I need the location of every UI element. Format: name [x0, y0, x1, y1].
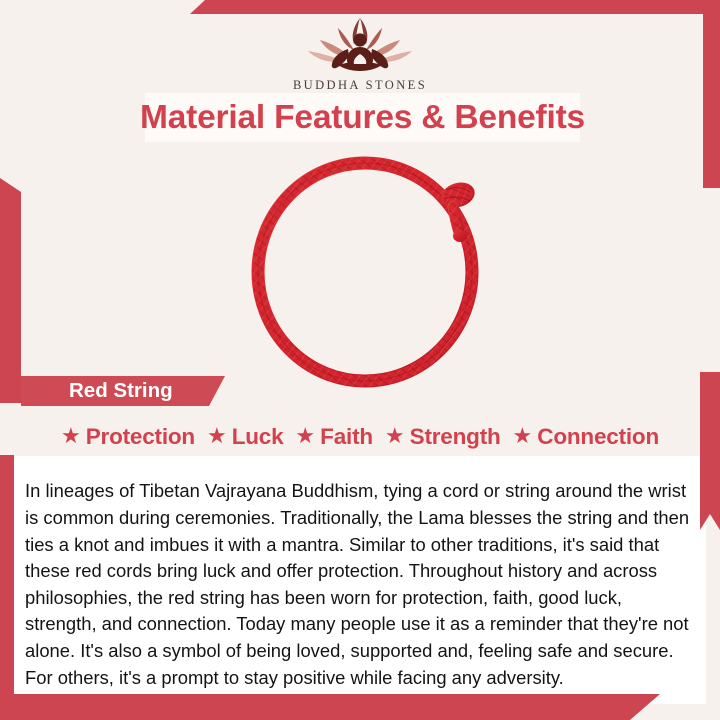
benefit-label: Connection — [537, 424, 659, 450]
star-icon: ★ — [61, 425, 81, 447]
benefit-item: ★ Connection — [513, 424, 659, 450]
benefit-item: ★ Luck — [207, 424, 283, 450]
benefit-item: ★ Faith — [295, 424, 372, 450]
benefit-label: Strength — [410, 424, 501, 450]
decorative-right-bar — [700, 372, 720, 530]
benefit-item: ★ Strength — [385, 424, 501, 450]
page-title: Material Features & Benefits — [145, 93, 580, 142]
lotus-meditation-icon — [304, 14, 416, 76]
product-label-text: Red String — [21, 376, 225, 406]
star-icon: ★ — [207, 425, 227, 447]
benefit-label: Protection — [86, 424, 195, 450]
star-icon: ★ — [513, 425, 533, 447]
infographic-page: BUDDHA STONES Material Features & Benefi… — [0, 0, 720, 720]
star-icon: ★ — [295, 425, 315, 447]
description-text: In lineages of Tibetan Vajrayana Buddhis… — [25, 478, 693, 691]
brand-name: BUDDHA STONES — [0, 78, 720, 93]
benefit-label: Luck — [232, 424, 284, 450]
benefits-list: ★ Protection ★ Luck ★ Faith ★ Strength ★… — [14, 419, 706, 455]
brand-logo: BUDDHA STONES — [0, 14, 720, 93]
decorative-left-bar — [0, 178, 21, 403]
benefit-item: ★ Protection — [61, 424, 195, 450]
decorative-left-strip — [0, 455, 14, 705]
benefit-label: Faith — [320, 424, 373, 450]
product-photo — [150, 150, 590, 395]
star-icon: ★ — [385, 425, 405, 447]
decorative-top-bar — [0, 0, 720, 14]
decorative-bottom-bar — [0, 694, 660, 720]
